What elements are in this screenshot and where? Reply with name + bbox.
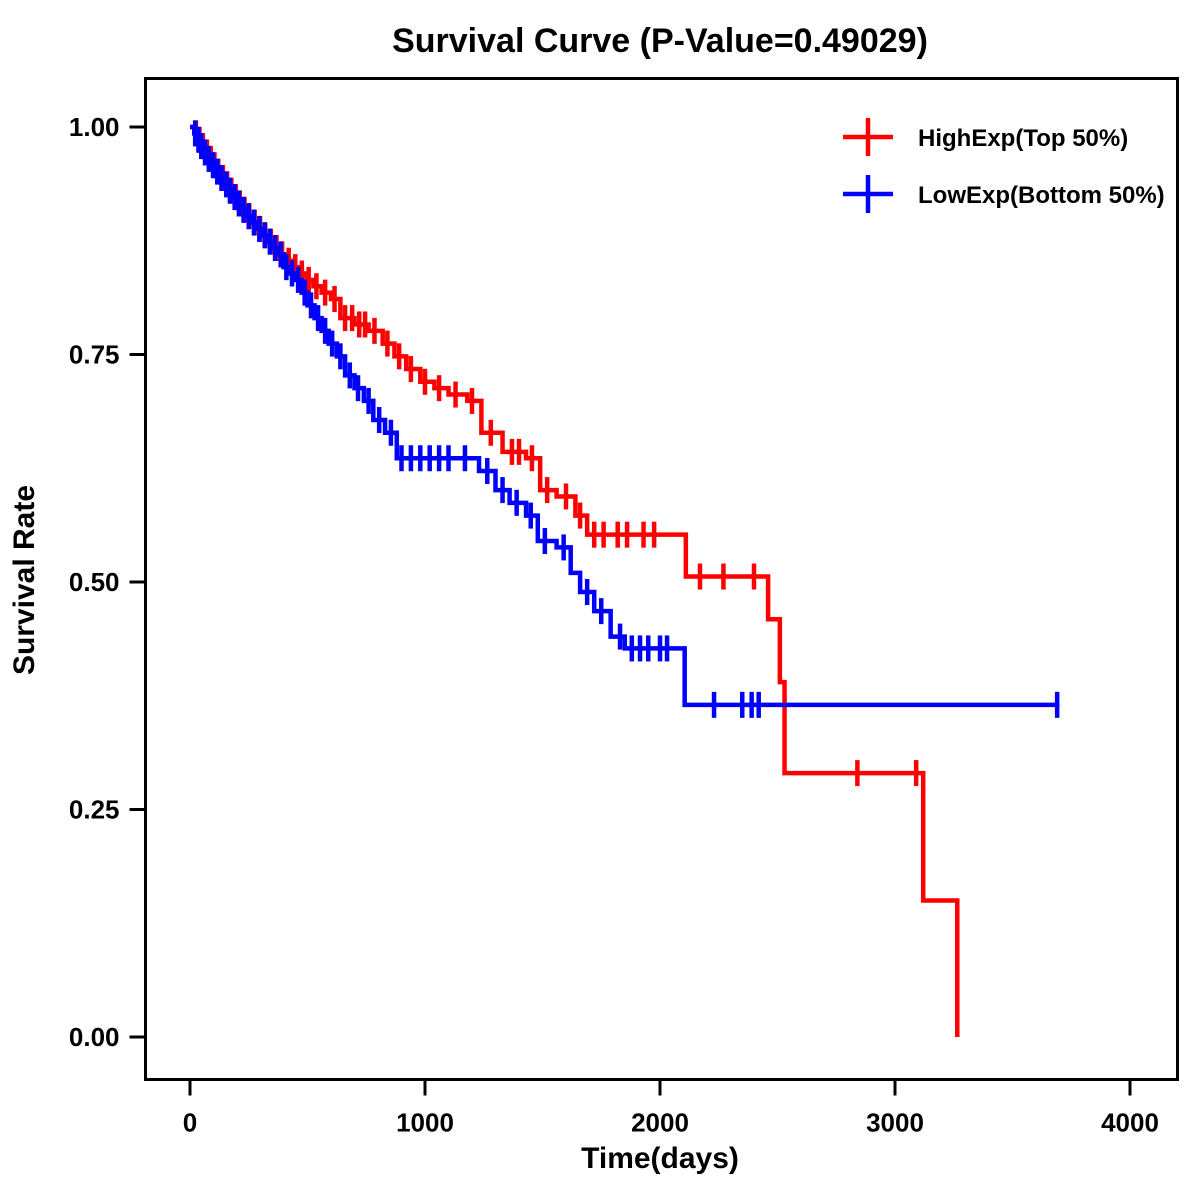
km-step-line (190, 127, 1060, 705)
x-axis-ticks: 01000200030004000 (183, 1080, 1159, 1138)
censor-marks (195, 120, 1057, 717)
km-step-line (190, 127, 957, 1037)
x-tick-label-2000: 2000 (631, 1108, 689, 1138)
y-tick-label-1.00: 1.00 (69, 112, 120, 142)
chart-legend: HighExp(Top 50%)LowExp(Bottom 50%) (843, 118, 1165, 213)
survival-series-low-exp (190, 120, 1060, 717)
survival-curve-figure: Survival Curve (P-Value=0.49029) 0100020… (0, 0, 1200, 1200)
chart-title: Survival Curve (P-Value=0.49029) (392, 22, 928, 60)
y-tick-label-0.50: 0.50 (69, 567, 120, 597)
x-axis-title: Time(days) (581, 1142, 739, 1175)
y-axis-ticks: 0.000.250.500.751.00 (69, 112, 146, 1052)
survival-curves-layer (190, 120, 1060, 1037)
y-tick-label-0.00: 0.00 (69, 1022, 120, 1052)
y-tick-label-0.25: 0.25 (69, 795, 120, 825)
x-tick-label-3000: 3000 (866, 1108, 924, 1138)
y-tick-label-0.75: 0.75 (69, 340, 120, 370)
survival-chart: Survival Curve (P-Value=0.49029) 0100020… (0, 0, 1200, 1200)
legend-label-high-exp: HighExp(Top 50%) (918, 125, 1128, 152)
plot-frame (146, 79, 1178, 1080)
x-tick-label-4000: 4000 (1101, 1108, 1159, 1138)
survival-series-high-exp (190, 120, 957, 1037)
x-tick-label-1000: 1000 (396, 1108, 454, 1138)
censor-marks (196, 120, 916, 786)
legend-label-low-exp: LowExp(Bottom 50%) (918, 182, 1165, 209)
x-tick-label-0: 0 (183, 1108, 197, 1138)
y-axis-title: Survival Rate (8, 485, 41, 675)
